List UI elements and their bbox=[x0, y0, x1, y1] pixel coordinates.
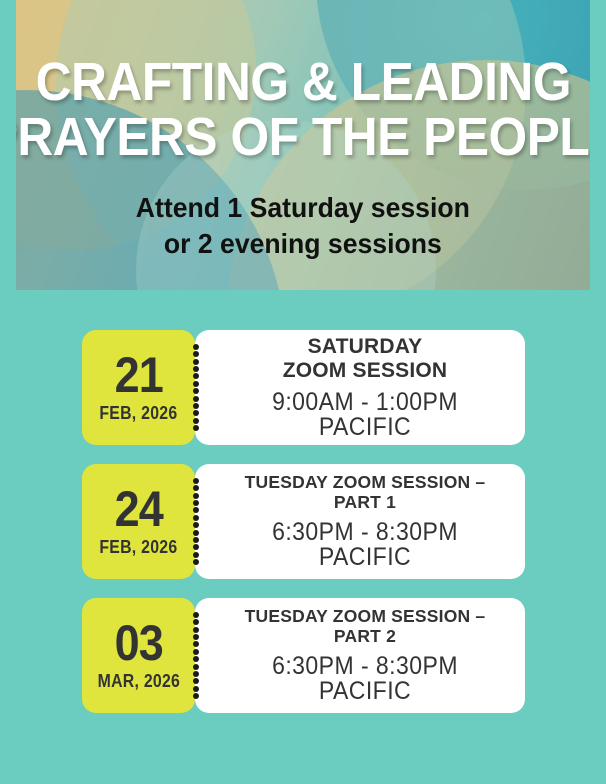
page-subtitle: Attend 1 Saturday session or 2 evening s… bbox=[136, 190, 470, 263]
perforation-dots-icon bbox=[192, 344, 199, 431]
page-subtitle-line-1: Attend 1 Saturday session bbox=[136, 190, 470, 226]
session-details: TUESDAY ZOOM SESSION – PART 1 6:30PM - 8… bbox=[195, 464, 525, 579]
session-time: 9:00AM - 1:00PM PACIFIC bbox=[231, 390, 500, 440]
session-title: TUESDAY ZOOM SESSION – PART 2 bbox=[219, 607, 511, 646]
header-banner: CRAFTING & LEADING PRAYERS OF THE PEOPLE… bbox=[16, 0, 590, 290]
session-title-line-1: TUESDAY ZOOM SESSION – PART 1 bbox=[219, 473, 511, 512]
session-list: 21 FEB, 2026 SATURDAY ZOOM SESSION 9:00A… bbox=[0, 330, 606, 713]
session-time: 6:30PM - 8:30PM PACIFIC bbox=[231, 654, 500, 704]
session-date-day: 24 bbox=[114, 484, 162, 534]
session-title: TUESDAY ZOOM SESSION – PART 1 bbox=[219, 473, 511, 512]
perforation-dots-icon bbox=[192, 612, 199, 699]
session-title-line-1: SATURDAY bbox=[283, 335, 448, 359]
page-subtitle-line-2: or 2 evening sessions bbox=[136, 226, 470, 262]
session-card[interactable]: 24 FEB, 2026 TUESDAY ZOOM SESSION – PART… bbox=[0, 464, 606, 579]
session-date-badge: 03 MAR, 2026 bbox=[82, 598, 195, 713]
session-date-badge: 21 FEB, 2026 bbox=[82, 330, 195, 445]
session-time: 6:30PM - 8:30PM PACIFIC bbox=[231, 520, 500, 570]
session-date-day: 21 bbox=[114, 350, 162, 400]
page-title-line-2: PRAYERS OF THE PEOPLE bbox=[16, 111, 590, 164]
session-date-month: MAR, 2026 bbox=[97, 672, 180, 690]
session-card[interactable]: 03 MAR, 2026 TUESDAY ZOOM SESSION – PART… bbox=[0, 598, 606, 713]
session-date-day: 03 bbox=[114, 618, 162, 668]
session-date-badge: 24 FEB, 2026 bbox=[82, 464, 195, 579]
session-title: SATURDAY ZOOM SESSION bbox=[283, 335, 448, 382]
page-title-line-1: CRAFTING & LEADING bbox=[16, 56, 590, 109]
page-title: CRAFTING & LEADING PRAYERS OF THE PEOPLE bbox=[16, 56, 590, 164]
perforation-dots-icon bbox=[192, 478, 199, 565]
session-details: SATURDAY ZOOM SESSION 9:00AM - 1:00PM PA… bbox=[195, 330, 525, 445]
session-details: TUESDAY ZOOM SESSION – PART 2 6:30PM - 8… bbox=[195, 598, 525, 713]
event-flyer: CRAFTING & LEADING PRAYERS OF THE PEOPLE… bbox=[0, 0, 606, 784]
session-title-line-1: TUESDAY ZOOM SESSION – PART 2 bbox=[219, 607, 511, 646]
session-title-line-2: ZOOM SESSION bbox=[283, 359, 448, 383]
session-card[interactable]: 21 FEB, 2026 SATURDAY ZOOM SESSION 9:00A… bbox=[0, 330, 606, 445]
session-date-month: FEB, 2026 bbox=[99, 404, 177, 422]
session-date-month: FEB, 2026 bbox=[99, 538, 177, 556]
header-content: CRAFTING & LEADING PRAYERS OF THE PEOPLE… bbox=[16, 0, 590, 290]
